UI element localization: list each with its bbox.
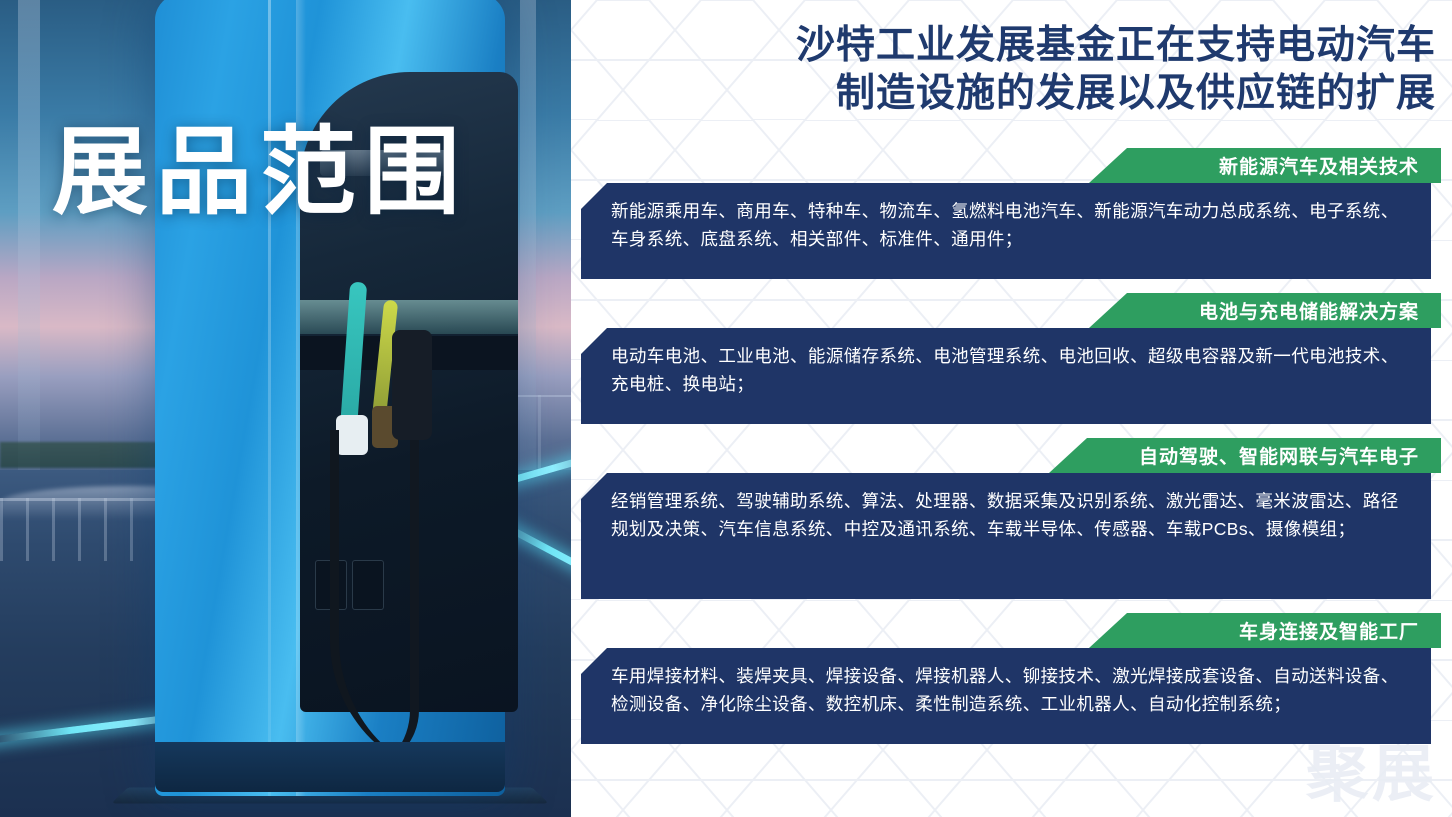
slide-root: 展品范围 沙特工业发展基金正在支持电动汽车 制造设施的发展以及供应链的扩展 bbox=[0, 0, 1452, 817]
page-title: 沙特工业发展基金正在支持电动汽车 制造设施的发展以及供应链的扩展 bbox=[571, 22, 1452, 117]
charging-connector-black bbox=[392, 330, 432, 440]
section-header-row: 新能源汽车及相关技术 bbox=[581, 148, 1441, 183]
page-title-line-1: 沙特工业发展基金正在支持电动汽车 bbox=[571, 22, 1436, 70]
section-item: 电池与充电储能解决方案 电动车电池、工业电池、能源储存系统、电池管理系统、电池回… bbox=[581, 293, 1441, 424]
section-header-badge[interactable]: 电池与充电储能解决方案 bbox=[1089, 293, 1441, 328]
section-body-text: 电动车电池、工业电池、能源储存系统、电池管理系统、电池回收、超级电容器及新一代电… bbox=[581, 328, 1431, 424]
sections-list: 新能源汽车及相关技术 新能源乘用车、商用车、特种车、物流车、氢燃料电池汽车、新能… bbox=[581, 148, 1441, 758]
hero-image-panel: 展品范围 bbox=[0, 0, 571, 817]
section-header-badge[interactable]: 车身连接及智能工厂 bbox=[1089, 613, 1441, 648]
page-title-line-2: 制造设施的发展以及供应链的扩展 bbox=[571, 70, 1436, 118]
section-body-text: 经销管理系统、驾驶辅助系统、算法、处理器、数据采集及识别系统、激光雷达、毫米波雷… bbox=[581, 473, 1431, 599]
content-panel: 沙特工业发展基金正在支持电动汽车 制造设施的发展以及供应链的扩展 新能源汽车及相… bbox=[571, 0, 1452, 817]
hero-title: 展品范围 bbox=[52, 125, 468, 221]
section-header-row: 车身连接及智能工厂 bbox=[581, 613, 1441, 648]
charging-cable bbox=[348, 440, 419, 770]
section-item: 新能源汽车及相关技术 新能源乘用车、商用车、特种车、物流车、氢燃料电池汽车、新能… bbox=[581, 148, 1441, 279]
section-header-badge[interactable]: 新能源汽车及相关技术 bbox=[1089, 148, 1441, 183]
charger-screen-band bbox=[300, 300, 518, 334]
section-item: 自动驾驶、智能网联与汽车电子 经销管理系统、驾驶辅助系统、算法、处理器、数据采集… bbox=[581, 438, 1441, 599]
charger-base bbox=[155, 742, 505, 792]
section-body-text: 车用焊接材料、装焊夹具、焊接设备、焊接机器人、铆接技术、激光焊接成套设备、自动送… bbox=[581, 648, 1431, 744]
section-body-text: 新能源乘用车、商用车、特种车、物流车、氢燃料电池汽车、新能源汽车动力总成系统、电… bbox=[581, 183, 1431, 279]
section-item: 车身连接及智能工厂 车用焊接材料、装焊夹具、焊接设备、焊接机器人、铆接技术、激光… bbox=[581, 613, 1441, 744]
section-header-row: 电池与充电储能解决方案 bbox=[581, 293, 1441, 328]
section-header-badge[interactable]: 自动驾驶、智能网联与汽车电子 bbox=[1049, 438, 1441, 473]
section-header-row: 自动驾驶、智能网联与汽车电子 bbox=[581, 438, 1441, 473]
